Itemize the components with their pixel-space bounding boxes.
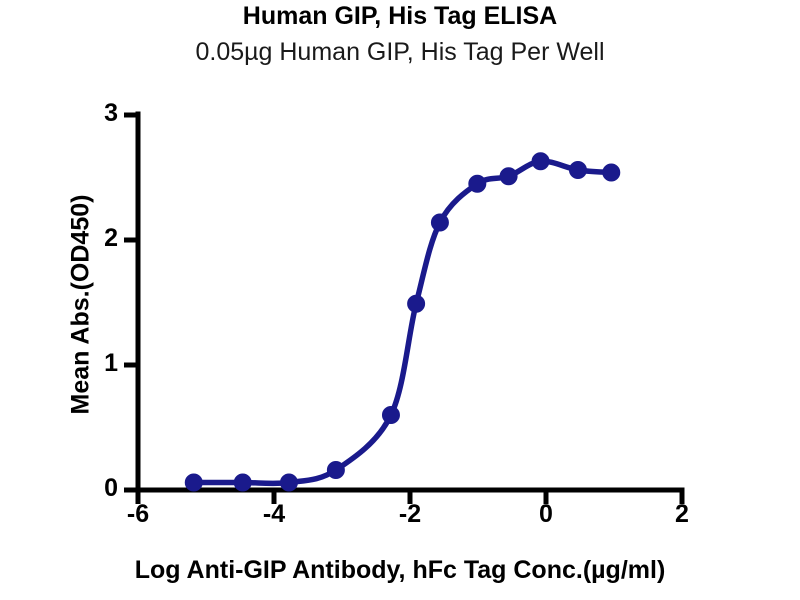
elisa-chart-figure: Human GIP, His Tag ELISA 0.05µg Human GI… [0,0,800,600]
data-points [185,153,620,491]
y-tick-label: 3 [78,99,118,128]
x-tick-label: 2 [652,500,712,529]
y-tick-label: 1 [78,349,118,378]
x-tick-label: -2 [380,500,440,529]
x-tick-label: 0 [516,500,576,529]
y-tick-label: 2 [78,224,118,253]
x-tick-label: -4 [244,500,304,529]
x-tick-label: -6 [108,500,168,529]
data-curve [194,161,612,483]
y-tick-label: 0 [78,474,118,503]
